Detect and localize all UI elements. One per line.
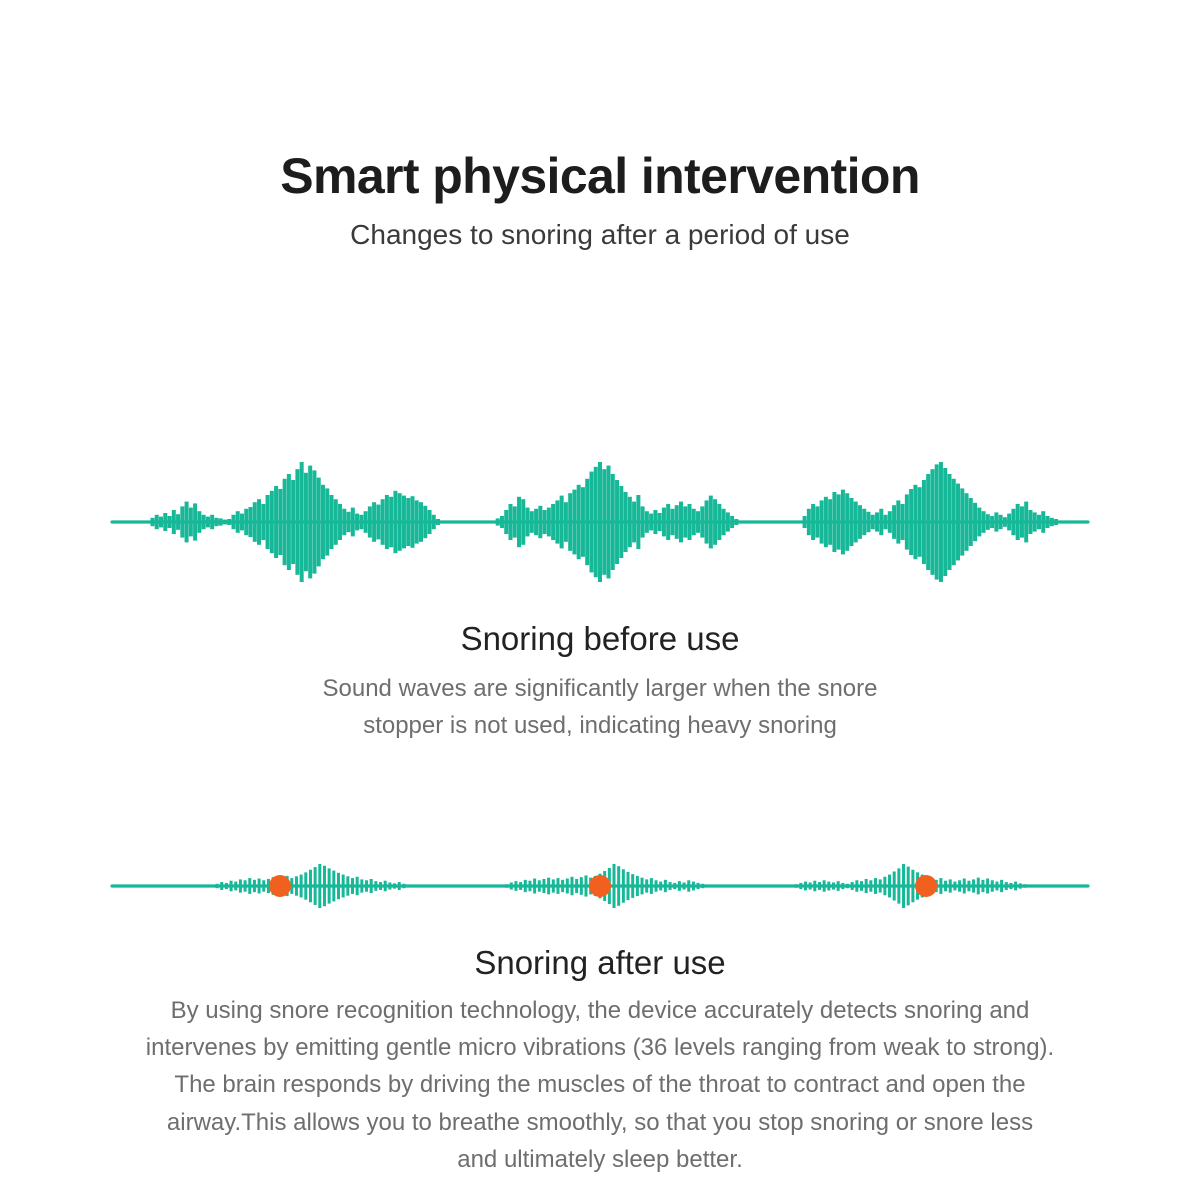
waveform-bar — [858, 505, 862, 539]
waveform-bar — [1024, 502, 1028, 543]
waveform-bar — [584, 875, 587, 896]
waveform-bar — [1009, 883, 1012, 889]
waveform-bar — [560, 496, 564, 549]
waveform-bar — [913, 485, 917, 559]
waveform-after-section — [0, 846, 1200, 916]
waveform-bar — [223, 520, 227, 525]
waveform-bar — [832, 492, 836, 552]
waveform-bar — [645, 511, 649, 533]
waveform-bar — [627, 872, 630, 900]
waveform-bar — [304, 473, 308, 571]
after-heading: Snoring after use — [0, 944, 1200, 982]
waveform-bar — [851, 882, 854, 890]
waveform-bar — [570, 877, 573, 895]
waveform-bar — [514, 881, 517, 891]
waveform-bar — [1003, 517, 1007, 527]
waveform-bar — [410, 496, 414, 548]
waveform-bar — [883, 877, 886, 895]
waveform-bar — [860, 881, 863, 891]
waveform-bar — [402, 884, 405, 888]
waveform-bar — [994, 512, 998, 531]
after-description-line: The brain responds by driving the muscle… — [55, 1066, 1145, 1103]
waveform-bar — [636, 495, 640, 549]
waveform-bar — [632, 502, 636, 543]
waveform-before-section — [0, 440, 1200, 600]
waveform-bar — [385, 495, 389, 549]
waveform-bar — [846, 884, 849, 888]
waveform-bar — [669, 882, 672, 890]
waveform-bar — [568, 493, 572, 551]
waveform-bar — [355, 514, 359, 531]
waveform-bar — [197, 511, 201, 533]
waveform-bar — [381, 499, 385, 545]
waveform-bar — [379, 882, 382, 890]
waveform-bar — [517, 497, 521, 547]
waveform-bar — [266, 495, 270, 549]
waveform-bar — [328, 868, 331, 903]
waveform-bar — [673, 883, 676, 889]
waveform-bar — [329, 495, 333, 549]
waveform-bar — [692, 509, 696, 535]
waveform-bar — [202, 515, 206, 529]
waveform-bar — [867, 512, 871, 532]
waveform-bar — [580, 877, 583, 895]
waveform-bar — [706, 885, 709, 888]
waveform-bar — [701, 884, 704, 888]
waveform-bar — [666, 504, 670, 540]
waveform-after-wrap — [0, 846, 1200, 916]
waveform-bar — [811, 504, 815, 540]
waveform-bar — [841, 490, 845, 555]
waveform-bar — [828, 499, 832, 545]
waveform-bar — [398, 882, 401, 890]
waveform-bar — [314, 867, 317, 905]
waveform-bar — [1019, 883, 1022, 888]
waveform-bar — [615, 480, 619, 564]
waveform-bar — [871, 515, 875, 529]
waveform-bar — [351, 878, 354, 894]
waveform-bar — [855, 880, 858, 891]
waveform-bar — [1033, 512, 1037, 531]
waveform-bar — [372, 502, 376, 542]
waveform-bar — [249, 507, 253, 537]
waveform-bar — [658, 513, 662, 531]
waveform-bar — [726, 512, 730, 531]
waveform-bar — [309, 870, 312, 903]
after-description-line: By using snore recognition technology, t… — [55, 992, 1145, 1029]
snore-detection-marker-icon — [589, 875, 611, 897]
waveform-bar — [351, 508, 355, 537]
waveform-bar — [159, 517, 163, 528]
waveform-bar — [556, 878, 559, 894]
waveform-bar — [337, 873, 340, 899]
waveform-bar — [407, 885, 410, 888]
waveform-bar — [1007, 514, 1011, 531]
waveform-bar — [705, 500, 709, 543]
waveform-bar — [406, 498, 410, 546]
waveform-bar — [513, 506, 517, 537]
waveform-bar — [555, 500, 559, 543]
waveform-bar — [960, 488, 964, 555]
waveform-bar — [809, 882, 812, 889]
waveform-bar — [901, 504, 905, 540]
page-subtitle: Changes to snoring after a period of use — [0, 218, 1200, 252]
waveform-bar — [874, 878, 877, 894]
waveform-bar — [1028, 510, 1032, 534]
waveform-bar — [248, 878, 251, 894]
waveform-bar — [662, 508, 666, 537]
waveform-bar — [270, 491, 274, 553]
waveform-bar — [717, 504, 721, 540]
waveform-bar — [636, 876, 639, 896]
waveform-bar — [231, 515, 235, 529]
waveform-bar — [696, 511, 700, 533]
waveform-bar — [956, 484, 960, 561]
waveform-bar — [253, 880, 256, 892]
waveform-bar — [963, 879, 966, 894]
waveform-bar — [841, 883, 844, 889]
waveform-bar — [359, 515, 363, 529]
waveform-bar — [675, 505, 679, 539]
waveform-bar — [905, 494, 909, 549]
waveform-bar — [713, 499, 717, 545]
waveform-bar — [700, 506, 704, 537]
waveform-bar — [219, 518, 223, 525]
waveform-bar — [300, 462, 304, 582]
waveform-bar — [990, 516, 994, 528]
waveform-bar — [300, 875, 303, 898]
waveform-bar — [398, 493, 402, 551]
waveform-bar — [949, 879, 952, 892]
waveform-bar — [664, 880, 667, 892]
waveform-bar — [262, 880, 265, 891]
waveform-bar — [611, 474, 615, 570]
page-title: Smart physical intervention — [0, 148, 1200, 204]
waveform-bar — [244, 509, 248, 535]
waveform-bar — [542, 879, 545, 893]
waveform-bar — [981, 880, 984, 892]
waveform-bar — [185, 502, 189, 543]
waveform-bar — [879, 509, 883, 535]
waveform-bar — [655, 880, 658, 891]
waveform-bar — [295, 469, 299, 575]
waveform-bar — [617, 866, 620, 906]
waveform-bar — [862, 509, 866, 535]
waveform-bar — [969, 498, 973, 546]
waveform-bar — [953, 882, 956, 891]
waveform-bar — [688, 504, 692, 540]
after-description-line: airway.This allows you to breathe smooth… — [55, 1104, 1145, 1141]
waveform-bar — [402, 496, 406, 549]
waveform-bar — [236, 511, 240, 533]
waveform-bar — [278, 489, 282, 555]
waveform-bar — [659, 882, 662, 891]
waveform-bar — [210, 515, 214, 529]
waveform-bar — [519, 882, 522, 890]
waveform-after-chart — [0, 846, 1200, 916]
waveform-bar — [304, 872, 307, 899]
waveform-bar — [287, 474, 291, 570]
waveform-bar — [837, 881, 840, 891]
waveform-bar — [892, 505, 896, 539]
waveform-bar — [730, 516, 734, 528]
waveform-bar — [368, 506, 372, 537]
waveform-bar — [538, 506, 542, 538]
after-description-line: and ultimately sleep better. — [55, 1141, 1145, 1178]
waveform-bar — [683, 882, 686, 889]
waveform-bar — [820, 500, 824, 543]
waveform-bar — [650, 878, 653, 894]
waveform-bar — [547, 508, 551, 537]
page-root: Smart physical intervention Changes to s… — [0, 0, 1200, 1200]
waveform-bar — [244, 880, 247, 891]
waveform-bar — [641, 506, 645, 537]
waveform-bar — [1011, 509, 1015, 535]
waveform-bar — [370, 879, 373, 893]
waveform-bar — [827, 882, 830, 891]
waveform-bar — [538, 880, 541, 891]
waveform-bar — [849, 498, 853, 546]
waveform-bar — [837, 494, 841, 549]
waveform-bar — [189, 508, 193, 537]
waveform-bar — [384, 881, 387, 892]
waveform-bar — [393, 883, 396, 888]
waveform-bar — [645, 879, 648, 892]
waveform-bar — [952, 479, 956, 565]
waveform-bar — [564, 502, 568, 542]
waveform-bar — [534, 509, 538, 535]
waveform-bar — [589, 472, 593, 573]
waveform-bar — [334, 499, 338, 545]
waveform-bar — [321, 485, 325, 559]
waveform-bar — [389, 497, 393, 547]
waveform-bar — [510, 882, 513, 889]
waveform-bar — [176, 514, 180, 530]
before-heading: Snoring before use — [0, 620, 1200, 658]
waveform-bar — [338, 504, 342, 540]
waveform-bar — [869, 880, 872, 891]
waveform-bar — [239, 879, 242, 892]
waveform-bar — [687, 880, 690, 891]
waveform-bar — [697, 883, 700, 889]
waveform-bar — [977, 878, 980, 895]
waveform-bar — [594, 467, 598, 577]
waveform-bar — [907, 867, 910, 906]
waveform-bar — [1000, 880, 1003, 892]
waveform-bar — [799, 883, 802, 889]
waveform-bar — [552, 879, 555, 892]
waveform-bar — [897, 868, 900, 903]
waveform-bar — [526, 508, 530, 537]
waveform-bar — [505, 884, 508, 888]
waveform-bar — [261, 504, 265, 540]
waveform-bar — [419, 502, 423, 542]
waveform-bar — [598, 462, 602, 582]
waveform-bar — [496, 518, 500, 525]
waveform-bar — [804, 882, 807, 891]
waveform-bar — [1046, 516, 1050, 528]
waveform-bar — [504, 510, 508, 534]
waveform-bar — [312, 470, 316, 573]
waveform-bar — [935, 464, 939, 579]
waveform-bar — [888, 875, 891, 898]
waveform-bar — [824, 497, 828, 547]
waveform-bar — [155, 515, 159, 529]
waveform-bar — [973, 503, 977, 541]
waveform-bar — [641, 878, 644, 895]
waveform-bar — [965, 493, 969, 551]
waveform-bar — [216, 884, 219, 888]
waveform-bar — [364, 511, 368, 533]
waveform-bar — [977, 508, 981, 537]
waveform-bar — [163, 513, 167, 531]
waveform-bar — [972, 879, 975, 892]
waveform-bar — [317, 478, 321, 567]
waveform-before-wrap — [0, 440, 1200, 600]
waveform-bar — [986, 879, 989, 894]
waveform-bar — [428, 510, 432, 534]
snore-detection-marker-icon — [915, 875, 937, 897]
waveform-bar — [930, 469, 934, 575]
waveform-bar — [561, 880, 564, 892]
before-description-line: stopper is not used, indicating heavy sn… — [220, 707, 980, 744]
waveform-bar — [922, 480, 926, 564]
waveform-bar — [581, 487, 585, 557]
waveform-bar — [832, 882, 835, 889]
waveform-bar — [415, 500, 419, 543]
waveform-bar — [818, 882, 821, 890]
after-description-line: intervenes by emitting gentle micro vibr… — [55, 1029, 1145, 1066]
waveform-bar — [888, 511, 892, 533]
waveform-bar — [332, 871, 335, 902]
waveform-bar — [1005, 882, 1008, 890]
waveform-bar — [813, 881, 816, 892]
waveform-bar — [628, 497, 632, 547]
waveform-bar — [995, 882, 998, 891]
waveform-bar — [986, 514, 990, 530]
waveform-bar — [649, 514, 653, 531]
waveform-bar — [967, 881, 970, 892]
waveform-bar — [947, 474, 951, 570]
waveform-bar — [436, 519, 440, 525]
waveform-bar — [692, 882, 695, 891]
waveform-bar — [683, 506, 687, 537]
waveform-bar — [547, 878, 550, 895]
waveform-after-bars — [216, 864, 1032, 908]
snore-detection-marker-icon — [269, 875, 291, 897]
waveform-bar — [323, 866, 326, 906]
waveform-bar — [679, 502, 683, 543]
waveform-bar — [225, 883, 228, 889]
waveform-bar — [291, 480, 295, 564]
waveform-bar — [991, 880, 994, 891]
waveform-bar — [854, 502, 858, 543]
waveform-bar — [982, 511, 986, 533]
waveform-bar — [926, 474, 930, 570]
waveform-bar — [150, 518, 154, 526]
waveform-bar — [325, 488, 329, 555]
waveform-bar — [585, 479, 589, 565]
waveform-bar — [234, 882, 237, 891]
waveform-bar — [823, 880, 826, 891]
waveform-bar — [670, 509, 674, 535]
waveform-bar — [551, 504, 555, 540]
waveform-bar — [533, 879, 536, 894]
waveform-bar — [875, 512, 879, 531]
waveform-bar — [944, 881, 947, 892]
waveform-bar — [423, 506, 427, 538]
after-text-block: Snoring after use By using snore recogni… — [0, 944, 1200, 1178]
waveform-bar — [388, 882, 391, 889]
waveform-bar — [214, 518, 218, 526]
waveform-bar — [347, 512, 351, 532]
waveform-bar — [845, 493, 849, 551]
waveform-bar — [543, 510, 547, 534]
waveform-bar — [274, 486, 278, 558]
waveform-bar — [257, 499, 261, 545]
waveform-bar — [734, 519, 738, 525]
waveform-bar — [939, 878, 942, 894]
waveform-bar — [521, 499, 525, 545]
waveform-bar — [258, 879, 261, 894]
waveform-bar — [295, 876, 298, 895]
waveform-bar — [318, 864, 321, 908]
waveform-bar — [896, 500, 900, 543]
waveform-bar — [624, 492, 628, 552]
waveform-bar — [168, 516, 172, 528]
waveform-bar — [884, 515, 888, 529]
waveform-bar — [283, 479, 287, 565]
waveform-bar — [509, 504, 513, 540]
waveform-bar — [939, 462, 943, 582]
waveform-bar — [253, 502, 257, 542]
waveform-bar — [566, 879, 569, 894]
waveform-bar — [1041, 511, 1045, 533]
waveform-bar — [909, 489, 913, 555]
waveform-bar — [528, 881, 531, 892]
waveform-bar — [1020, 506, 1024, 537]
waveform-bar — [356, 877, 359, 895]
waveform-bar — [360, 879, 363, 892]
waveform-bar — [1028, 885, 1031, 887]
waveform-bar — [622, 869, 625, 902]
waveform-bar — [879, 879, 882, 892]
waveform-bar — [911, 870, 914, 903]
waveform-bar — [1014, 882, 1017, 891]
waveform-bar — [227, 519, 231, 525]
waveform-bar — [346, 876, 349, 895]
waveform-bar — [206, 517, 210, 528]
waveform-bar — [342, 509, 346, 535]
waveform-bar — [902, 864, 905, 908]
waveform-bar — [1037, 515, 1041, 529]
waveform-bar — [530, 511, 534, 533]
waveform-bar — [432, 515, 436, 529]
waveform-bar — [308, 466, 312, 579]
waveform-bar — [678, 881, 681, 891]
waveform-bar — [220, 882, 223, 890]
waveform-bar — [807, 509, 811, 535]
waveform-bar — [803, 516, 807, 528]
waveform-bar — [709, 496, 713, 549]
waveform-bar — [1023, 884, 1026, 888]
waveform-bar — [572, 490, 576, 555]
waveform-bar — [999, 515, 1003, 529]
waveform-bar — [365, 880, 368, 891]
waveform-bar — [575, 879, 578, 893]
waveform-before-chart — [0, 440, 1200, 600]
before-description-line: Sound waves are significantly larger whe… — [220, 670, 980, 707]
